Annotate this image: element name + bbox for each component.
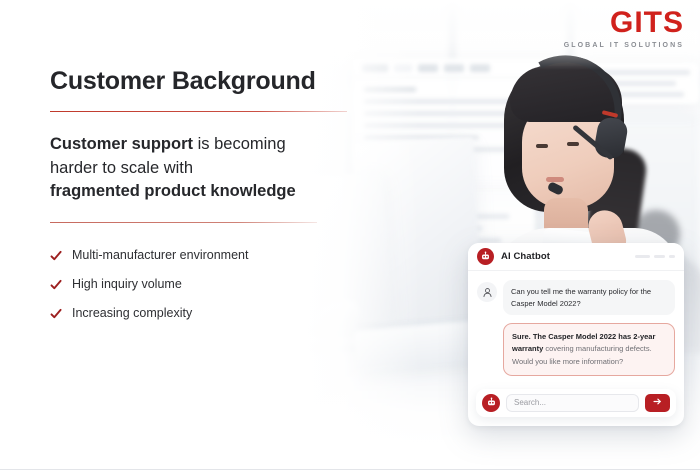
list-item: High inquiry volume bbox=[50, 277, 350, 292]
check-icon bbox=[50, 250, 62, 262]
list-item: Multi-manufacturer environment bbox=[50, 248, 350, 263]
user-message-row: Can you tell me the warranty policy for … bbox=[477, 280, 675, 315]
brand-logo: GITS GLOBAL IT SOLUTIONS bbox=[564, 8, 684, 49]
titlebar-chip bbox=[418, 64, 438, 72]
page-title: Customer Background bbox=[50, 68, 350, 96]
robot-icon bbox=[482, 394, 500, 412]
list-item-label: Increasing complexity bbox=[72, 306, 192, 321]
subheadline-part-2: harder to scale with bbox=[50, 159, 193, 177]
titlebar-chip bbox=[444, 64, 464, 72]
titlebar-chip bbox=[394, 64, 412, 72]
bot-message-bubble: Sure. The Casper Model 2022 has 2-year w… bbox=[503, 323, 675, 375]
chatbot-title: AI Chatbot bbox=[501, 251, 550, 262]
row-line bbox=[364, 87, 416, 92]
user-icon bbox=[477, 282, 497, 302]
list-item-label: High inquiry volume bbox=[72, 277, 182, 292]
placeholder-dash bbox=[635, 255, 650, 258]
subheadline-emphasis-2: fragmented product knowledge bbox=[50, 182, 296, 200]
list-item-label: Multi-manufacturer environment bbox=[72, 248, 248, 263]
header-placeholder-dashes bbox=[635, 255, 675, 258]
title-divider bbox=[50, 111, 347, 113]
agent-lips bbox=[546, 177, 564, 182]
search-input[interactable]: Search... bbox=[506, 394, 639, 412]
list-item: Increasing complexity bbox=[50, 306, 350, 321]
check-icon bbox=[50, 279, 62, 291]
slide-canvas: GITS GLOBAL IT SOLUTIONS Customer Backgr… bbox=[0, 0, 700, 470]
robot-icon bbox=[477, 248, 494, 265]
send-button[interactable] bbox=[645, 394, 670, 412]
agent-eye bbox=[567, 142, 579, 146]
bullet-list: Multi-manufacturer environment High inqu… bbox=[50, 248, 350, 321]
agent-eye bbox=[536, 144, 548, 148]
subheadline: Customer support is becoming harder to s… bbox=[50, 133, 350, 204]
logo-tagline: GLOBAL IT SOLUTIONS bbox=[564, 42, 684, 49]
user-message-bubble: Can you tell me the warranty policy for … bbox=[503, 280, 675, 315]
subheadline-emphasis-1: Customer support bbox=[50, 135, 193, 153]
placeholder-dash bbox=[654, 255, 665, 258]
subheadline-part-1: is becoming bbox=[193, 135, 286, 153]
content-column: Customer Background Customer support is … bbox=[50, 68, 350, 321]
check-icon bbox=[50, 308, 62, 320]
logo-wordmark: GITS bbox=[564, 8, 684, 38]
subheadline-divider bbox=[50, 222, 317, 224]
arrow-right-icon bbox=[652, 395, 663, 410]
placeholder-dash bbox=[669, 255, 675, 258]
chatbot-header: AI Chatbot bbox=[468, 243, 684, 271]
ai-chatbot-card: AI Chatbot Can you tell me the warranty … bbox=[468, 243, 684, 426]
titlebar-chip bbox=[362, 64, 388, 72]
chatbot-conversation: Can you tell me the warranty policy for … bbox=[468, 271, 684, 380]
chat-input-bar[interactable]: Search... bbox=[476, 389, 676, 417]
search-input-placeholder: Search... bbox=[514, 398, 546, 407]
